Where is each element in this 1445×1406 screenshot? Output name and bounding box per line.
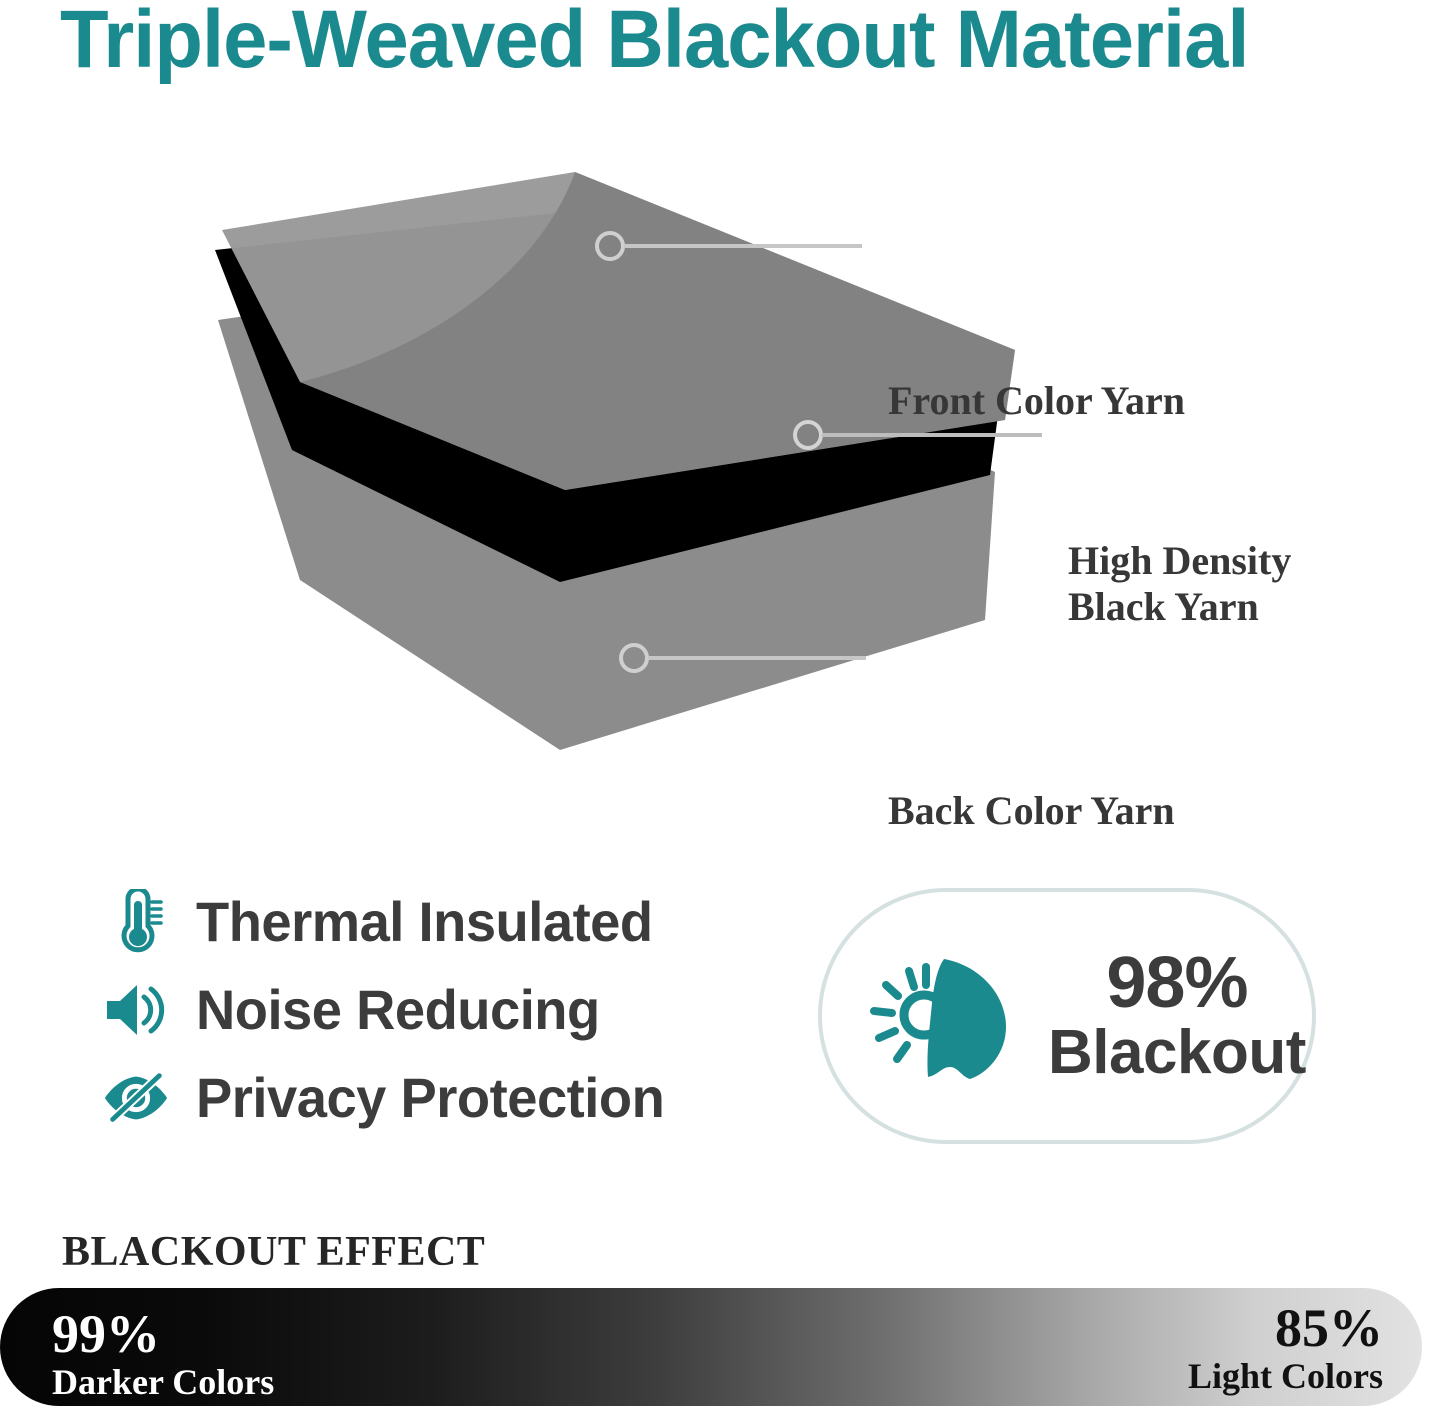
layer-label-high-density: High Density Black Yarn <box>1068 538 1291 630</box>
layer-label-high-density-line1: High Density <box>1068 538 1291 583</box>
blackout-stat-darker-percent: 99% <box>52 1306 274 1362</box>
eye-slash-icon <box>100 1062 172 1134</box>
speaker-icon <box>100 974 172 1046</box>
blackout-stat-light: 85% Light Colors <box>1188 1300 1383 1396</box>
layer-label-back: Back Color Yarn <box>888 788 1175 834</box>
blackout-effect-title: BLACKOUT EFFECT <box>62 1228 485 1276</box>
blackout-percent: 98% <box>1106 946 1247 1020</box>
blackout-stat-light-percent: 85% <box>1188 1300 1383 1356</box>
blackout-stat-darker: 99% Darker Colors <box>52 1306 274 1402</box>
layer-label-high-density-line2: Black Yarn <box>1068 584 1259 629</box>
feature-item-thermal: Thermal Insulated <box>100 878 760 966</box>
feature-label-thermal: Thermal Insulated <box>196 892 653 952</box>
feature-label-privacy: Privacy Protection <box>196 1068 664 1128</box>
blackout-stat-light-caption: Light Colors <box>1188 1356 1383 1396</box>
blackout-stat-darker-caption: Darker Colors <box>52 1362 274 1402</box>
feature-item-noise: Noise Reducing <box>100 966 760 1054</box>
blackout-word: Blackout <box>1048 1020 1306 1086</box>
feature-label-noise: Noise Reducing <box>196 980 600 1040</box>
blackout-badge: 98% Blackout <box>818 888 1316 1144</box>
feature-list: Thermal Insulated Noise Reducing Privacy… <box>100 878 760 1142</box>
sun-blocked-by-curtain-icon <box>866 941 1014 1091</box>
page-title: Triple-Weaved Blackout Material <box>60 0 1360 88</box>
layer-label-front: Front Color Yarn <box>888 378 1185 424</box>
feature-item-privacy: Privacy Protection <box>100 1054 760 1142</box>
fabric-layers-diagram: Front Color Yarn High Density Black Yarn… <box>0 150 1445 770</box>
thermometer-icon <box>100 886 172 958</box>
blackout-badge-text: 98% Blackout <box>1048 946 1306 1086</box>
